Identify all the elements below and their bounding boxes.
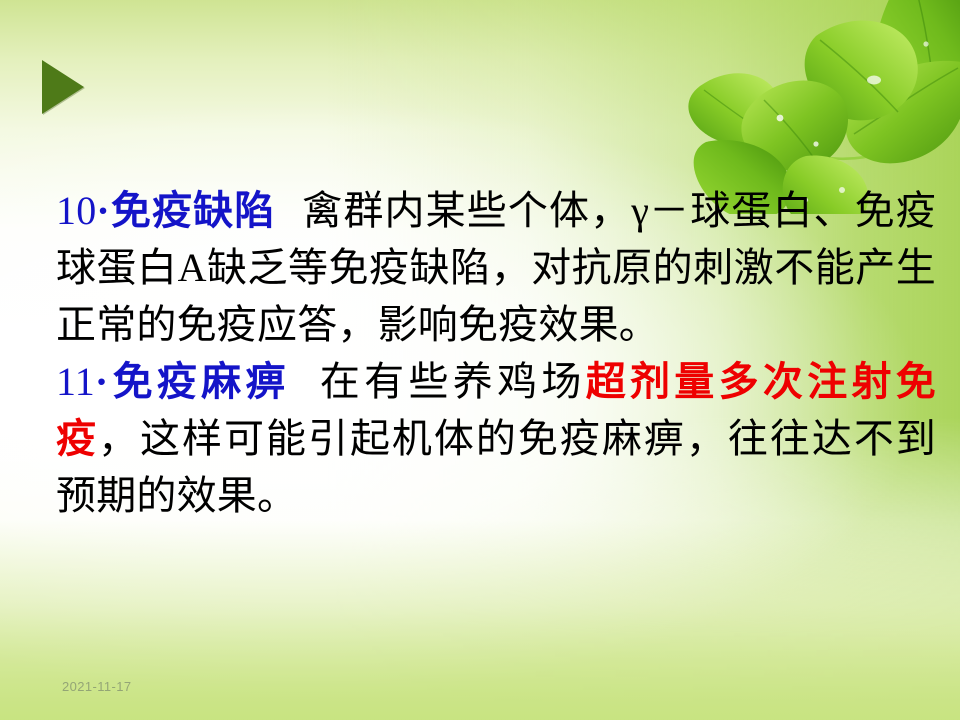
slide-body: 10·免疫缺陷禽群内某些个体，γ－球蛋白、免疫球蛋白A缺乏等免疫缺陷，对抗原的刺…: [56, 182, 936, 524]
paragraph-item-10: 10·免疫缺陷禽群内某些个体，γ－球蛋白、免疫球蛋白A缺乏等免疫缺陷，对抗原的刺…: [56, 182, 936, 353]
item-body-part-1: 禽群内某些个体，: [301, 188, 631, 233]
item-separator: ·: [96, 188, 110, 233]
paragraph-item-11: 11·免疫麻痹在有些养鸡场超剂量多次注射免疫，这样可能引起机体的免疫麻痹，往往达…: [56, 353, 936, 524]
item-body-part-1: 在有些养鸡场: [316, 359, 586, 404]
greek-gamma-symbol: γ: [631, 188, 649, 233]
latin-letter-a: A: [178, 245, 207, 290]
item-separator: ·: [95, 359, 109, 404]
item-number: 10: [56, 188, 96, 233]
item-body-part-2: ，这样可能引起机体的免疫麻痹，往往达不到预期的效果。: [56, 416, 936, 518]
item-heading: 免疫缺陷: [110, 188, 275, 233]
slide-canvas: 10·免疫缺陷禽群内某些个体，γ－球蛋白、免疫球蛋白A缺乏等免疫缺陷，对抗原的刺…: [0, 0, 960, 720]
date-stamp: 2021-11-17: [62, 679, 132, 694]
background-gradient-bottom: [0, 520, 960, 720]
play-triangle-icon: [42, 60, 84, 114]
item-heading: 免疫麻痹: [108, 359, 289, 404]
item-number: 11: [56, 359, 95, 404]
